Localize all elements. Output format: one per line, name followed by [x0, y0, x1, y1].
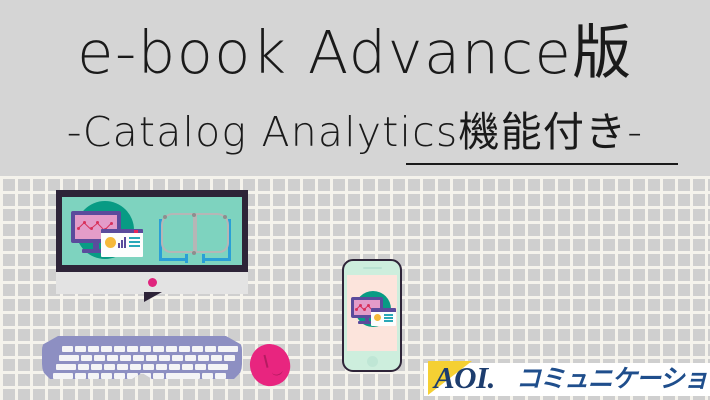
key[interactable]: [192, 346, 203, 352]
slide-canvas: e-book Advance版 -Catalog Analytics機能付き-: [0, 0, 710, 400]
chart-point: [90, 227, 93, 230]
book-corner-node: [163, 215, 167, 219]
key[interactable]: [114, 373, 125, 379]
chart-point: [359, 304, 362, 307]
key[interactable]: [153, 346, 164, 352]
open-book-icon: [157, 207, 233, 263]
chart-point: [367, 304, 370, 307]
phone-home-button[interactable]: [367, 356, 378, 367]
key[interactable]: [101, 373, 112, 379]
key[interactable]: [101, 346, 112, 352]
subtitle-underline: [406, 163, 678, 165]
key[interactable]: [91, 364, 102, 370]
dashboard-card: [371, 308, 396, 326]
book-corner-node: [223, 215, 227, 219]
key[interactable]: [94, 355, 105, 361]
card-pie-chart: [105, 237, 116, 248]
monitor-stand: [144, 292, 162, 302]
key[interactable]: [140, 373, 151, 379]
key[interactable]: [120, 355, 131, 361]
key-tab[interactable]: [59, 355, 79, 361]
key[interactable]: [205, 346, 216, 352]
logo-brand-kana: コミュニケーションズ: [516, 365, 710, 393]
card-bar: [118, 243, 120, 248]
card-pie-chart: [374, 314, 381, 321]
chart-point: [355, 308, 358, 311]
key[interactable]: [202, 373, 213, 379]
book-page-left: [161, 213, 195, 253]
logo-brand-text: AOI.: [434, 361, 495, 395]
headline-band: e-book Advance版 -Catalog Analytics機能付き-: [0, 0, 710, 176]
page-subtitle: -Catalog Analytics機能付き-: [67, 108, 643, 156]
chart-point: [363, 308, 366, 311]
card-bar: [124, 237, 126, 248]
mouse-highlight: [271, 365, 284, 376]
card-text-line: [129, 245, 140, 247]
key-spacebar[interactable]: [166, 373, 200, 379]
key[interactable]: [159, 355, 170, 361]
chart-point: [110, 222, 113, 225]
key[interactable]: [153, 373, 164, 379]
key[interactable]: [143, 364, 154, 370]
key[interactable]: [78, 364, 89, 370]
key[interactable]: [195, 364, 206, 370]
key[interactable]: [146, 355, 157, 361]
key-caps[interactable]: [56, 364, 76, 370]
card-bar: [121, 240, 123, 248]
book-corner-node: [192, 213, 196, 217]
key[interactable]: [107, 355, 118, 361]
key[interactable]: [166, 346, 177, 352]
desktop-computer: [56, 190, 248, 304]
key-shift-left[interactable]: [53, 373, 73, 379]
card-close-icon[interactable]: [134, 230, 138, 233]
key[interactable]: [81, 355, 92, 361]
card-text-line: [129, 241, 140, 243]
chart-point: [77, 227, 80, 230]
keyboard-row: [59, 355, 235, 361]
keyboard[interactable]: [42, 336, 242, 394]
key[interactable]: [156, 364, 167, 370]
phone-speaker: [363, 267, 382, 269]
key[interactable]: [179, 346, 190, 352]
keyboard-row: [53, 373, 226, 379]
key[interactable]: [75, 373, 86, 379]
mouse-button-divider: [263, 355, 268, 368]
keyboard-body: [42, 336, 242, 386]
key[interactable]: [88, 346, 99, 352]
key[interactable]: [211, 355, 222, 361]
key[interactable]: [104, 364, 115, 370]
book-shelf-notch: [185, 254, 205, 263]
page-subtitle-wrap: -Catalog Analytics機能付き-: [0, 112, 710, 153]
card-text-line: [384, 320, 393, 322]
monitor-screen: [62, 197, 242, 265]
smartphone: [342, 259, 402, 372]
key[interactable]: [182, 364, 193, 370]
book-page-right: [195, 213, 229, 253]
chart-point: [96, 221, 99, 224]
card-text-line: [384, 317, 393, 319]
key[interactable]: [62, 346, 73, 352]
key[interactable]: [140, 346, 151, 352]
key[interactable]: [198, 355, 209, 361]
card-text-line: [384, 314, 393, 316]
keyboard-row: [62, 346, 238, 352]
key[interactable]: [114, 346, 125, 352]
key-backspace[interactable]: [218, 346, 238, 352]
monitor-frame: [56, 190, 248, 272]
monitor-power-dot: [148, 278, 157, 287]
book-spine: [193, 213, 196, 253]
key[interactable]: [133, 355, 144, 361]
key[interactable]: [117, 364, 128, 370]
card-text-line: [129, 237, 140, 239]
key[interactable]: [127, 373, 138, 379]
chart-point: [83, 221, 86, 224]
key[interactable]: [224, 355, 235, 361]
dashboard-card: [101, 229, 143, 257]
key[interactable]: [75, 346, 86, 352]
key[interactable]: [185, 355, 196, 361]
key[interactable]: [215, 373, 226, 379]
key[interactable]: [127, 346, 138, 352]
company-logo: AOI. コミュニケーションズ: [424, 357, 710, 400]
book-corner-node: [192, 251, 196, 255]
key[interactable]: [169, 364, 180, 370]
phone-screen: [347, 275, 397, 351]
keyboard-row: [56, 364, 228, 370]
key-enter[interactable]: [208, 364, 228, 370]
key[interactable]: [130, 364, 141, 370]
page-title: e-book Advance版: [0, 23, 710, 82]
key[interactable]: [172, 355, 183, 361]
key[interactable]: [88, 373, 99, 379]
